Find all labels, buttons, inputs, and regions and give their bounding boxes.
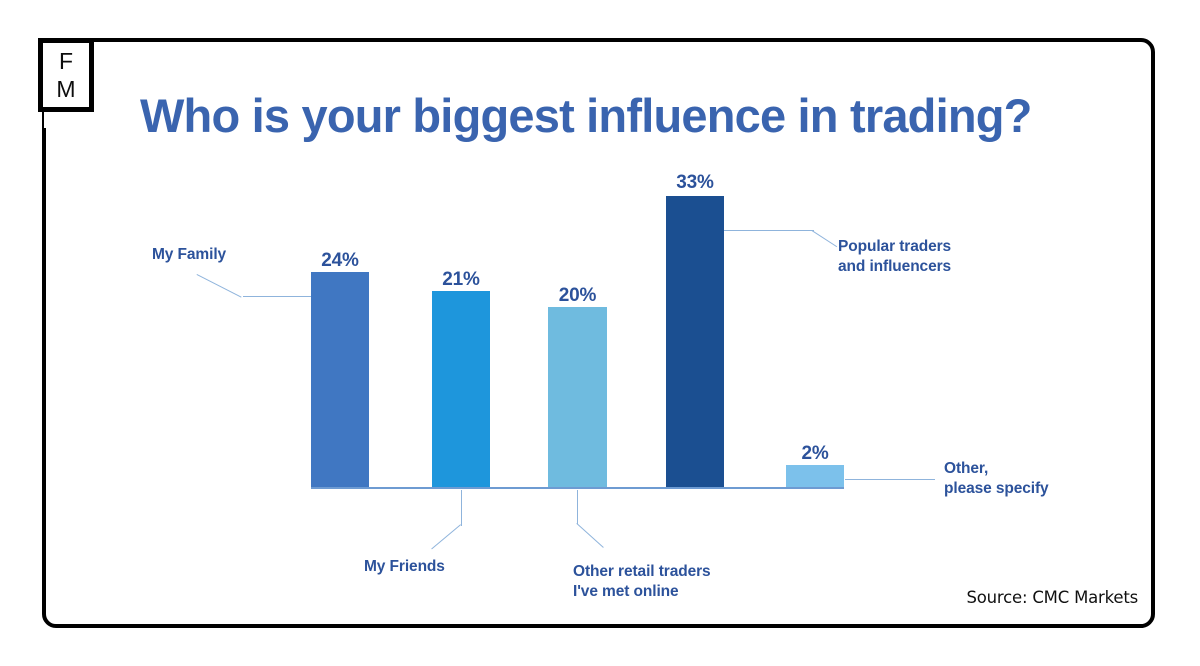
- logo-frame-mask: [44, 112, 90, 128]
- logo-letter-m: M: [56, 78, 75, 101]
- chart-canvas: F M Who is your biggest influence in tra…: [0, 0, 1200, 666]
- logo-letter-f: F: [59, 50, 73, 73]
- page-title: Who is your biggest influence in trading…: [140, 88, 1032, 143]
- source-attribution: Source: CMC Markets: [966, 588, 1138, 607]
- fm-logo: F M: [38, 38, 94, 112]
